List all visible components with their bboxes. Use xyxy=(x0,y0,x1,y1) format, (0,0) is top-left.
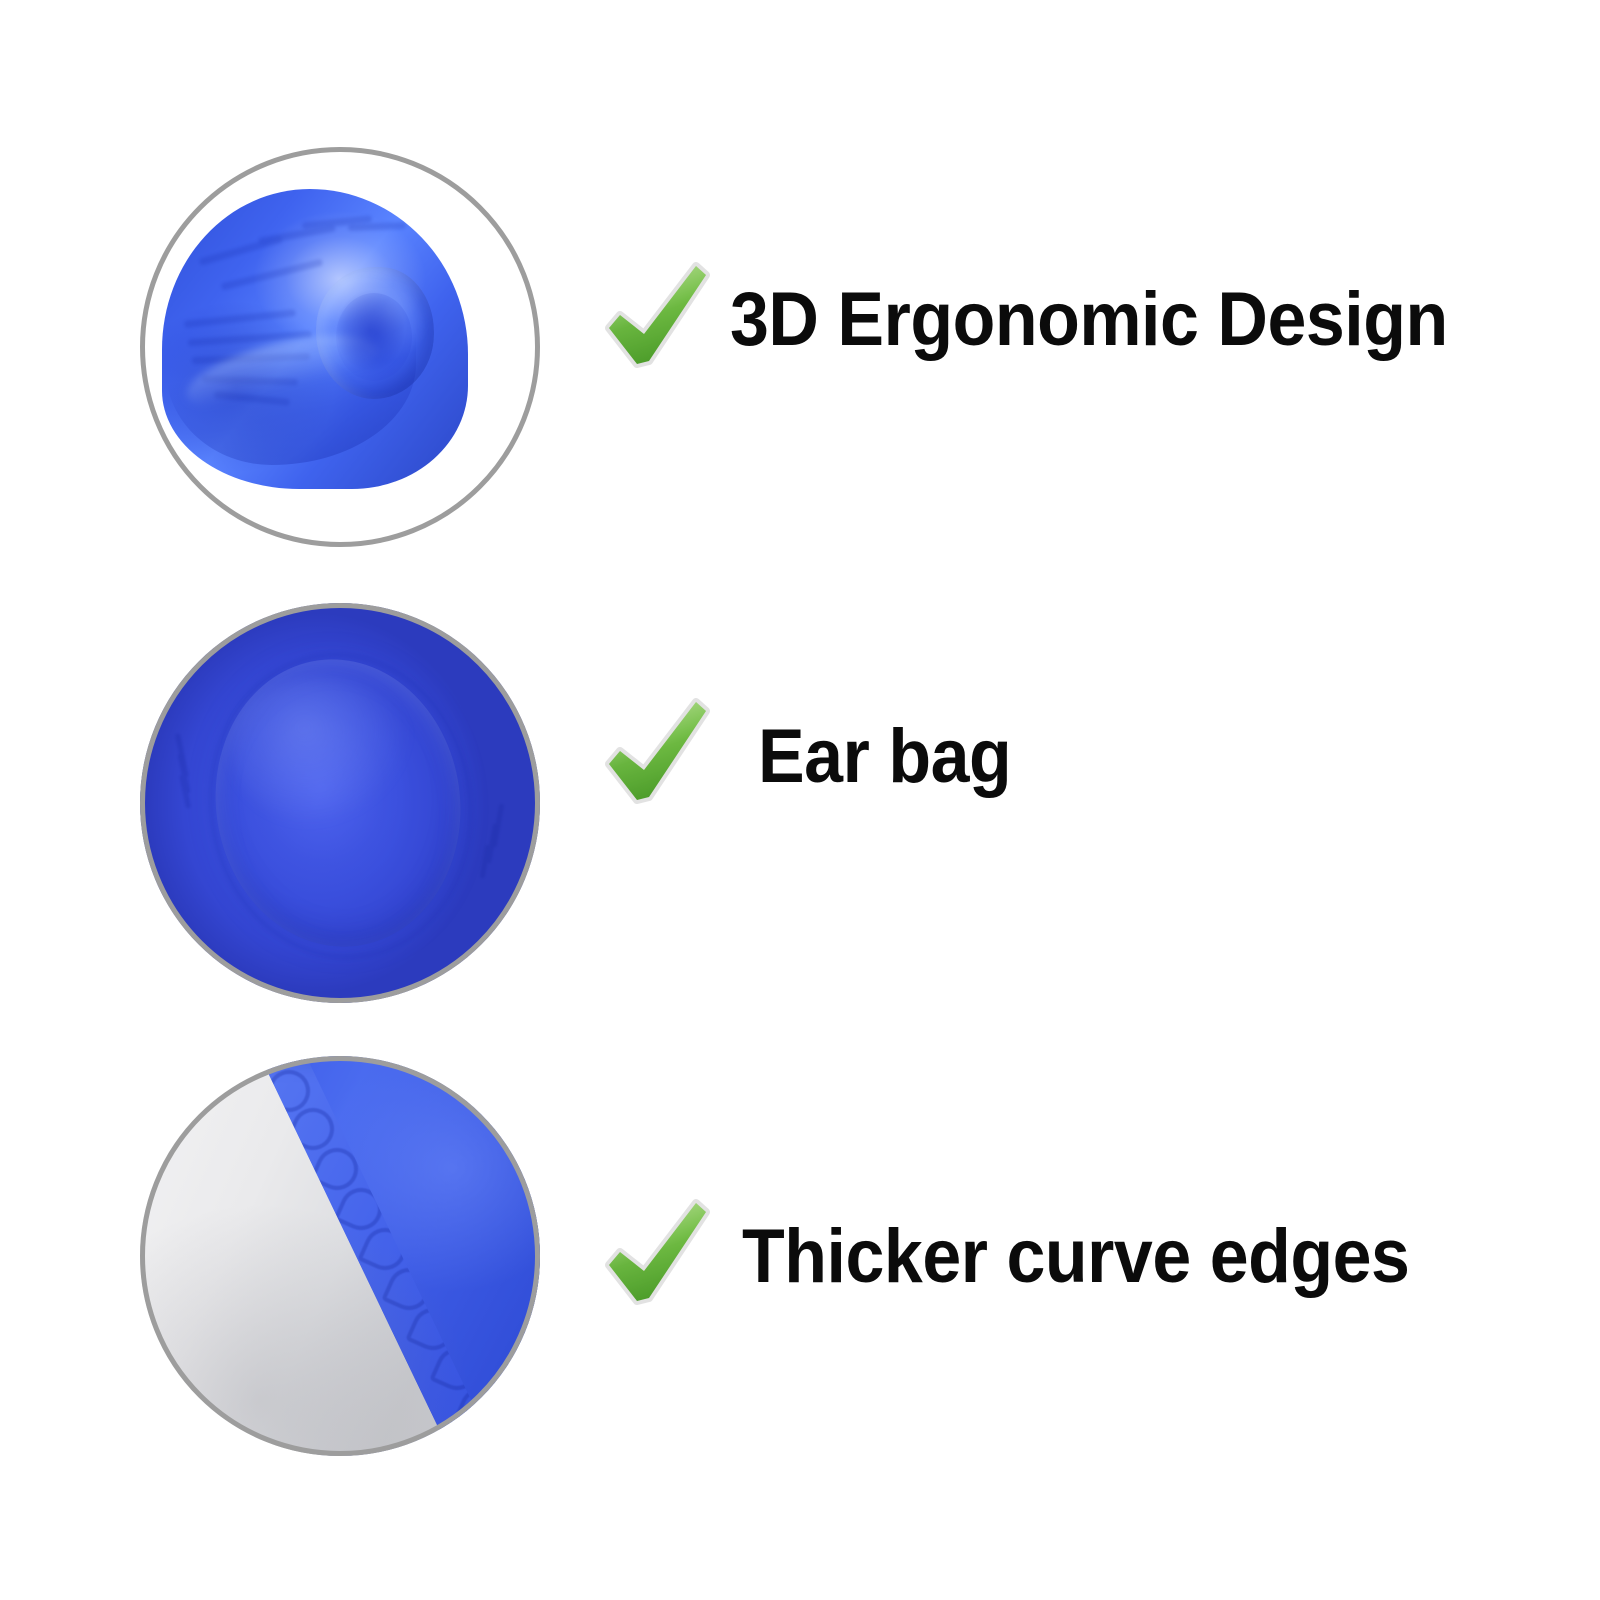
thicker-curve-edge-closeup-photo xyxy=(140,1056,540,1456)
feature-label: Ear bag xyxy=(758,719,1011,795)
ear-bag-closeup-photo xyxy=(140,603,540,1003)
ear-bag-highlight xyxy=(232,677,412,827)
green-check-icon xyxy=(600,255,718,373)
feature-row: Ear bag xyxy=(0,593,1600,1013)
green-check-icon xyxy=(600,1192,718,1310)
product-feature-infographic: 3D Ergonomic Design xyxy=(0,0,1600,1600)
feature-row: Thicker curve edges xyxy=(0,1046,1600,1466)
cap-ear-pocket-inner xyxy=(336,293,412,381)
edge-soft-shadow xyxy=(140,1056,540,1456)
green-check-icon xyxy=(600,691,718,809)
feature-label: 3D Ergonomic Design xyxy=(730,282,1448,358)
feature-label: Thicker curve edges xyxy=(742,1219,1409,1295)
swim-cap-3d-shape-photo xyxy=(140,147,540,547)
swim-cap-illustration xyxy=(140,147,540,547)
feature-row: 3D Ergonomic Design xyxy=(0,137,1600,557)
